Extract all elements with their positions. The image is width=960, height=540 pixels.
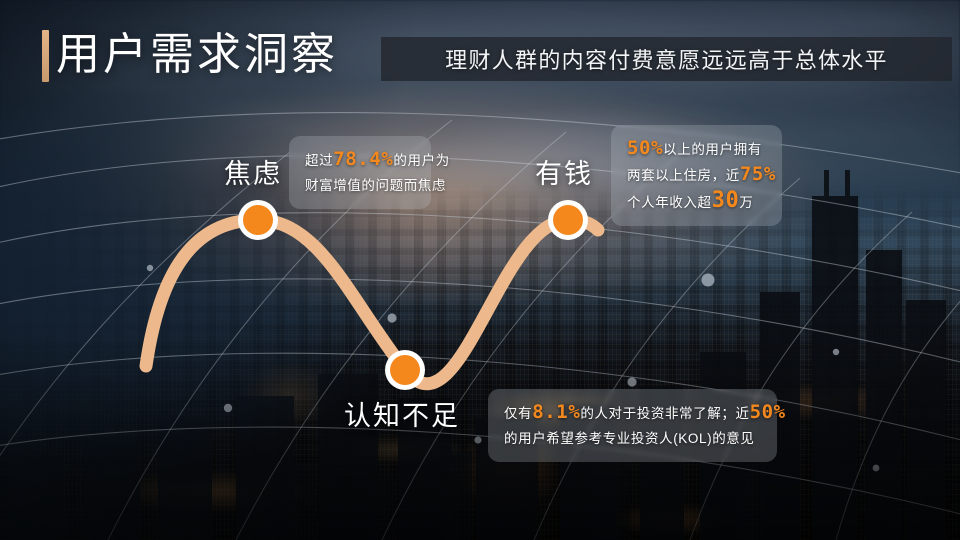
callout-text: 财富增值的问题而焦虑 xyxy=(305,178,446,193)
callout-line-1: 超过78.4%的用户为 xyxy=(305,147,415,173)
callout-text: 以上的用户拥有 xyxy=(663,142,762,157)
stat-highlight: 75% xyxy=(740,163,776,185)
slide-header: 用户需求洞察 理财人群的内容付费意愿远远高于总体水平 xyxy=(0,0,960,100)
node-label-cognition: 认知不足 xyxy=(344,394,460,433)
stat-highlight: 50% xyxy=(627,137,663,159)
callout-line-2: 两套以上住房，近75% xyxy=(627,162,766,188)
callout-line-3: 个人年收入超30万 xyxy=(627,188,766,215)
stat-highlight: 50% xyxy=(750,401,786,423)
callout-card-anxiety: 超过78.4%的用户为财富增值的问题而焦虑 xyxy=(289,136,431,209)
callout-line-2: 的用户希望参考专业投资人(KOL)的意见 xyxy=(504,426,761,451)
callout-text: 仅有 xyxy=(504,406,532,421)
callout-text: 两套以上住房，近 xyxy=(627,168,740,183)
callout-card-rich: 50%以上的用户拥有两套以上住房，近75%个人年收入超30万 xyxy=(611,125,782,226)
page-title: 用户需求洞察 xyxy=(56,23,338,87)
stat-highlight: 8.1% xyxy=(532,401,580,423)
subtitle-banner: 理财人群的内容付费意愿远远高于总体水平 xyxy=(381,37,952,81)
stat-highlight: 78.4% xyxy=(333,148,393,170)
title-accent-bar xyxy=(42,30,49,82)
callout-card-cognition: 仅有8.1%的人对于投资非常了解；近50%的用户希望参考专业投资人(KOL)的意… xyxy=(488,389,777,462)
callout-line-2: 财富增值的问题而焦虑 xyxy=(305,173,415,198)
slide-canvas: 用户需求洞察 理财人群的内容付费意愿远远高于总体水平 焦虑 认知不足 有钱 超过… xyxy=(0,0,960,540)
stat-highlight: 30 xyxy=(712,188,740,213)
callout-text: 个人年收入超 xyxy=(627,195,712,210)
callout-text: 的用户为 xyxy=(393,153,449,168)
callout-text: 的用户希望参考专业投资人(KOL)的意见 xyxy=(504,431,755,446)
node-label-anxiety: 焦虑 xyxy=(224,152,282,191)
callout-line-1: 50%以上的用户拥有 xyxy=(627,136,766,162)
callout-text: 的人对于投资非常了解；近 xyxy=(580,406,749,421)
callout-text: 万 xyxy=(739,195,753,210)
subtitle-text: 理财人群的内容付费意愿远远高于总体水平 xyxy=(445,43,888,75)
node-label-rich: 有钱 xyxy=(535,152,593,191)
callout-line-1: 仅有8.1%的人对于投资非常了解；近50% xyxy=(504,400,761,426)
callout-text: 超过 xyxy=(305,153,333,168)
